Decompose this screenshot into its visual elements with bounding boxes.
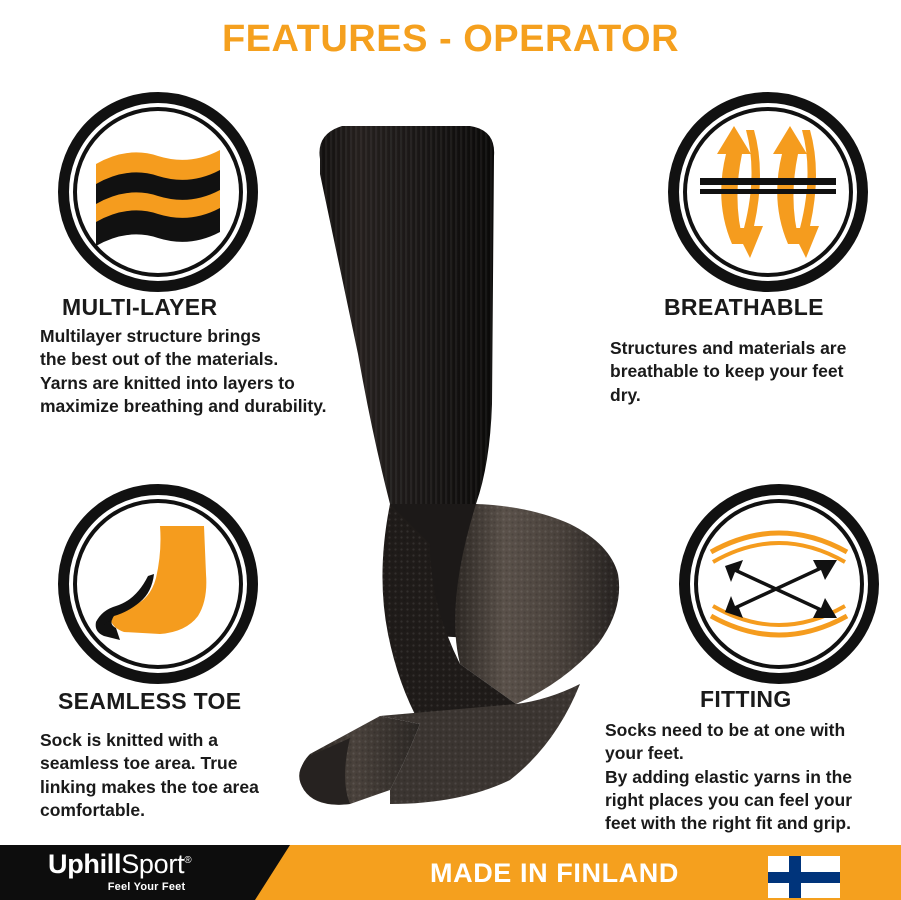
body-line: Yarns are knitted into layers to xyxy=(40,372,370,395)
body-line: Multilayer structure brings xyxy=(40,325,370,348)
body-line: Structures and materials are xyxy=(610,337,900,360)
body-line: your feet. xyxy=(605,742,901,765)
feature-breathable: BREATHABLE Structures and materials are … xyxy=(610,92,900,407)
registered-mark-icon: ® xyxy=(184,855,191,866)
body-line: breathable to keep your feet xyxy=(610,360,900,383)
fitting-icon-badge xyxy=(679,484,879,684)
crossed-arrows-icon xyxy=(703,508,855,660)
page-title: FEATURES - OPERATOR xyxy=(0,18,901,61)
logo-tagline: Feel Your Feet xyxy=(48,882,191,893)
feature-heading: MULTI-LAYER xyxy=(62,294,370,321)
feature-heading: FITTING xyxy=(700,686,901,713)
logo-sport: Sport xyxy=(121,849,184,879)
feature-body: Multilayer structure brings the best out… xyxy=(40,325,370,418)
airflow-arrows-icon xyxy=(692,116,844,268)
logo-uphill: Uphill xyxy=(48,849,121,879)
body-line: By adding elastic yarns in the xyxy=(605,766,901,789)
body-line: maximize breathing and durability. xyxy=(40,395,370,418)
infographic-page: FEATURES - OPERATOR xyxy=(0,0,901,900)
feature-fitting: FITTING Socks need to be at one with you… xyxy=(605,484,901,835)
feature-body: Sock is knitted with a seamless toe area… xyxy=(40,729,340,822)
foot-sock-icon xyxy=(82,508,234,660)
feature-heading: SEAMLESS TOE xyxy=(58,688,340,715)
layers-icon xyxy=(82,116,234,268)
body-line: comfortable. xyxy=(40,799,340,822)
feature-seamless-toe: SEAMLESS TOE Sock is knitted with a seam… xyxy=(40,484,340,822)
body-line: dry. xyxy=(610,384,900,407)
feature-heading: BREATHABLE xyxy=(664,294,900,321)
breathable-icon-badge xyxy=(668,92,868,292)
seamless-toe-icon-badge xyxy=(58,484,258,684)
made-in-finland-label: MADE IN FINLAND xyxy=(430,858,679,889)
body-line: Sock is knitted with a xyxy=(40,729,340,752)
logo-wordmark: UphillSport® xyxy=(48,851,191,878)
finland-flag-icon xyxy=(768,856,840,898)
feature-body: Socks need to be at one with your feet. … xyxy=(605,719,901,835)
feature-multi-layer: MULTI-LAYER Multilayer structure brings … xyxy=(40,92,370,418)
multi-layer-icon-badge xyxy=(58,92,258,292)
brand-logo: UphillSport® Feel Your Feet xyxy=(48,851,191,893)
body-line: Socks need to be at one with xyxy=(605,719,901,742)
body-line: linking makes the toe area xyxy=(40,776,340,799)
body-line: feet with the right fit and grip. xyxy=(605,812,901,835)
body-line: right places you can feel your xyxy=(605,789,901,812)
body-line: the best out of the materials. xyxy=(40,348,370,371)
feature-body: Structures and materials are breathable … xyxy=(610,337,900,407)
body-line: seamless toe area. True xyxy=(40,752,340,775)
footer-bar: UphillSport® Feel Your Feet MADE IN FINL… xyxy=(0,845,901,900)
